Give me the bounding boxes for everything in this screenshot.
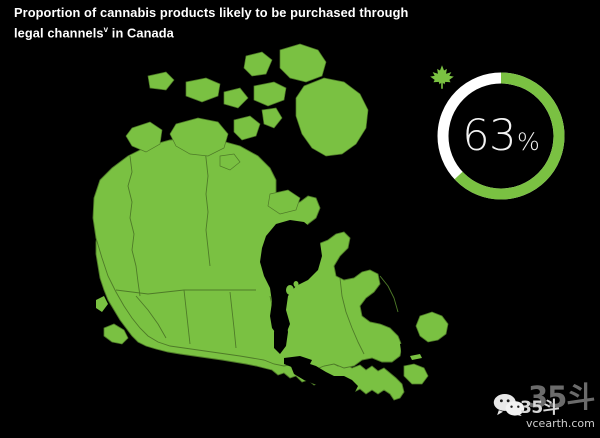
baffin-island [296,78,368,156]
watermark: 35斗 35斗 vcearth.com [470,378,596,434]
melville-island [186,78,220,102]
watermark-brand-front: 35斗 [520,400,559,417]
newfoundland-island [416,312,448,342]
canada-map [8,28,478,428]
axel-heiberg-island [244,52,272,76]
infographic-canvas: Proportion of cannabis products likely t… [0,0,600,438]
canada-map-svg [8,28,478,428]
donut-center-label: 63 % [429,64,573,208]
nova-scotia [404,364,428,384]
donut-percentage-value: 63 [462,115,516,158]
gulf-st-lawrence-water [400,340,426,364]
prince-patrick-island [148,72,174,90]
watermark-url: vcearth.com [526,418,595,429]
belcher-islands [286,285,294,295]
ellesmere-island [280,44,326,82]
bathurst-island [224,88,248,108]
belcher-islands-2 [294,281,299,287]
border-quebec-labrador [380,276,398,312]
somerset-island [262,108,282,128]
title-line-1: Proportion of cannabis products likely t… [14,4,554,21]
maple-leaf-icon [429,64,455,90]
devon-island [254,82,286,106]
donut-percentage-symbol: % [517,130,540,154]
donut-percentage: 63 % [462,115,540,158]
prince-of-wales-island [234,116,260,140]
vancouver-island [104,324,128,344]
map-landmass [93,44,448,400]
donut-chart: 63 % [429,64,573,208]
haida-gwaii [96,296,108,312]
